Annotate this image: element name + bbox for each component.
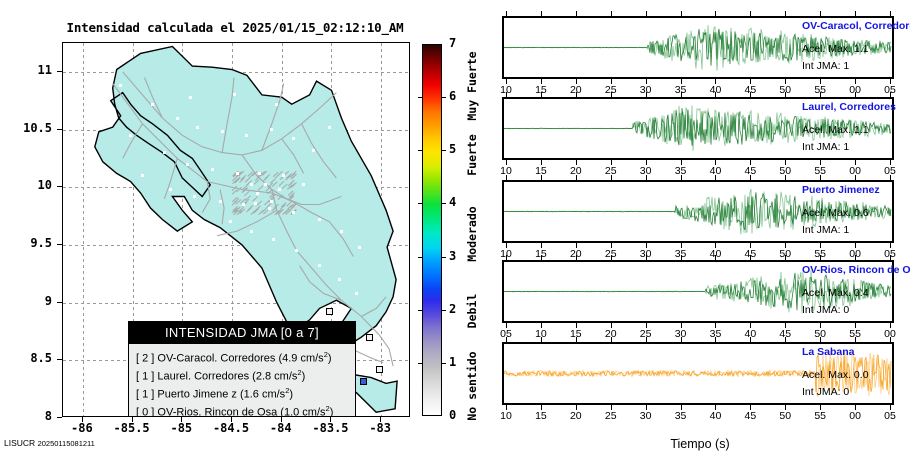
time-axis-tick-top <box>611 337 612 342</box>
y-axis-label: 11 <box>4 63 52 77</box>
station-dot <box>250 183 253 186</box>
time-axis-tick <box>855 160 856 165</box>
legend-item-tail: ) <box>302 371 306 383</box>
station-dot <box>233 93 236 96</box>
time-axis-tick-top <box>715 337 716 342</box>
legend-item-level: [ 2 ] <box>136 353 157 365</box>
time-axis-tick-top <box>681 175 682 180</box>
y-axis-label: 9.5 <box>4 236 52 250</box>
time-axis-tick <box>576 323 577 328</box>
time-axis-tick-label: 45 <box>735 410 765 422</box>
colorbar-category-label: Muy Fuerte <box>465 51 479 120</box>
station-dot <box>272 238 275 241</box>
time-axis-tick <box>715 405 716 410</box>
waveform-station-name: OV-Rios, Rincon de Osa <box>802 264 910 276</box>
time-axis-tick-top <box>855 92 856 97</box>
colorbar-tick <box>441 257 446 258</box>
legend-item: [ 1 ] Puerto Jimene z (1.6 cm/s2) <box>136 384 350 402</box>
time-axis-tick <box>750 405 751 410</box>
y-axis-label: 8 <box>4 409 52 423</box>
colorbar-category-label: Moderado <box>465 207 479 262</box>
station-square-marker[interactable] <box>360 378 367 385</box>
time-axis-tick-label: 20 <box>561 410 591 422</box>
waveform-station-name: Puerto Jimenez <box>802 184 880 196</box>
time-axis-tick <box>506 323 507 328</box>
station-dot <box>221 130 224 133</box>
time-axis-tick-top <box>715 11 716 16</box>
time-axis-tick-top <box>506 175 507 180</box>
time-axis-tick-top <box>855 337 856 342</box>
time-axis-tick <box>855 243 856 248</box>
y-axis-tick <box>57 186 62 187</box>
time-axis-tick-top <box>681 92 682 97</box>
time-axis-tick <box>750 160 751 165</box>
time-axis-tick <box>890 243 891 248</box>
time-axis-tick-label: 55 <box>805 410 835 422</box>
colorbar-tick-label: 3 <box>449 249 456 263</box>
time-axis-tick-top <box>750 11 751 16</box>
colorbar-tick-label: 1 <box>449 355 456 369</box>
time-axis-tick-top <box>646 175 647 180</box>
time-axis-tick <box>681 405 682 410</box>
intensity-map[interactable]: INTENSIDAD JMA [0 a 7] [ 2 ] OV-Caracol.… <box>62 42 410 417</box>
colorbar-category-label: No sentido <box>465 351 479 420</box>
time-axis-tick <box>506 79 507 84</box>
waveform-time-axis <box>502 243 894 249</box>
y-axis-tick <box>57 244 62 245</box>
station-dot <box>318 218 321 221</box>
time-axis-tick-label: 35 <box>666 410 696 422</box>
station-dot <box>275 103 278 106</box>
waveform-time-axis <box>502 79 894 85</box>
station-dot <box>270 128 273 131</box>
time-axis-tick-top <box>541 175 542 180</box>
legend-title: INTENSIDAD JMA [0 a 7] <box>129 322 355 344</box>
legend-rows: [ 2 ] OV-Caracol. Corredores (4.9 cm/s2)… <box>129 344 355 417</box>
station-dot <box>358 246 361 249</box>
page-title: Intensidad calculada el 2025/01/15_02:12… <box>60 20 410 35</box>
time-axis-tick-top <box>750 175 751 180</box>
station-dot <box>193 195 196 198</box>
time-axis-tick <box>890 79 891 84</box>
waveform-max-acceleration: Acel. Max. 0.6 <box>802 207 869 219</box>
station-dot <box>338 278 341 281</box>
time-axis-tick-top <box>541 255 542 260</box>
station-dot <box>355 292 358 295</box>
waveform-time-axis <box>502 160 894 166</box>
station-dot <box>186 163 189 166</box>
station-dot <box>278 188 281 191</box>
time-axis-tick-top <box>890 337 891 342</box>
time-axis-tick <box>855 79 856 84</box>
station-dot <box>292 211 295 214</box>
waveform-max-acceleration: Acel. Max. 1.1 <box>802 43 869 55</box>
colorbar-tick-label: 2 <box>449 302 456 316</box>
time-axis-tick <box>611 405 612 410</box>
colorbar-tick <box>441 310 446 311</box>
station-dot <box>119 84 122 87</box>
time-axis-tick <box>646 323 647 328</box>
time-axis-tick-top <box>785 92 786 97</box>
time-axis-tick-top <box>785 255 786 260</box>
station-dot <box>258 172 261 175</box>
time-axis-tick <box>506 405 507 410</box>
legend-item-station: OV-Caracol. Corredores (4.9 cm/s <box>157 353 323 365</box>
waveform-time-axis <box>502 405 894 411</box>
time-axis-tick-top <box>750 92 751 97</box>
time-axis-tick-top <box>576 255 577 260</box>
station-dot <box>270 200 273 203</box>
legend-item-tail: ) <box>330 407 334 417</box>
legend-item-tail: ) <box>328 353 332 365</box>
time-axis-tick-top <box>820 337 821 342</box>
colorbar-tick-label: 6 <box>449 89 456 103</box>
time-axis-tick-label: 50 <box>770 410 800 422</box>
time-axis-tick-top <box>541 337 542 342</box>
time-axis-tick <box>820 323 821 328</box>
time-axis-tick-top <box>890 92 891 97</box>
time-axis-tick <box>750 323 751 328</box>
waveform-jma-intensity: Int JMA: 1 <box>802 60 849 72</box>
time-axis-tick-top <box>855 255 856 260</box>
station-dot <box>250 230 253 233</box>
time-axis-tick <box>785 323 786 328</box>
time-axis-tick-top <box>715 92 716 97</box>
time-axis-tick-top <box>611 11 612 16</box>
time-axis-tick <box>576 79 577 84</box>
legend-item-station: Laurel. Corredores (2.8 cm/s <box>157 371 297 383</box>
y-axis-tick <box>57 71 62 72</box>
time-axis-tick <box>890 160 891 165</box>
time-axis-tick <box>715 323 716 328</box>
colorbar-tick <box>441 203 446 204</box>
legend-box: INTENSIDAD JMA [0 a 7] [ 2 ] OV-Caracol.… <box>128 321 356 417</box>
waveform-station-name: Laurel, Corredores <box>802 101 896 113</box>
y-axis-tick <box>57 417 62 418</box>
time-axis-tick-top <box>855 11 856 16</box>
colorbar-tick-label: 7 <box>449 36 456 50</box>
time-axis-tick-top <box>611 255 612 260</box>
time-axis-tick-top <box>611 175 612 180</box>
colorbar-category-label: Debil <box>465 294 479 329</box>
waveform-jma-intensity: Int JMA: 1 <box>802 141 849 153</box>
time-axis-tick <box>576 160 577 165</box>
time-axis-tick <box>611 243 612 248</box>
time-axis-tick <box>750 79 751 84</box>
legend-item: [ 2 ] OV-Caracol. Corredores (4.9 cm/s2) <box>136 348 350 366</box>
time-axis-tick-top <box>506 337 507 342</box>
time-axis-tick <box>820 405 821 410</box>
y-axis-tick <box>57 359 62 360</box>
time-axis-tick-top <box>750 337 751 342</box>
time-axis-label: Tiempo (s) <box>560 437 840 451</box>
station-dot <box>189 96 192 99</box>
station-dot <box>295 249 298 252</box>
time-axis-tick <box>681 160 682 165</box>
time-axis-tick-label: 25 <box>596 410 626 422</box>
time-axis-tick <box>715 243 716 248</box>
colorbar-tick <box>418 363 423 364</box>
station-dot <box>163 151 166 154</box>
station-dot <box>113 111 116 114</box>
station-dot <box>211 168 214 171</box>
time-axis-tick-top <box>576 11 577 16</box>
station-dot <box>176 117 179 120</box>
station-dot <box>264 183 267 186</box>
legend-item-tail: ) <box>289 389 293 401</box>
time-axis-tick-top <box>890 175 891 180</box>
time-axis-tick <box>715 160 716 165</box>
time-axis-tick <box>785 243 786 248</box>
time-axis-tick-top <box>785 175 786 180</box>
time-axis-tick-top <box>576 92 577 97</box>
station-square-marker[interactable] <box>326 308 333 315</box>
time-axis-tick <box>541 243 542 248</box>
colorbar-tick-label: 4 <box>449 195 456 209</box>
colorbar-tick-label: 0 <box>449 408 456 422</box>
station-dot <box>340 230 343 233</box>
station-dot <box>169 188 172 191</box>
time-axis-tick <box>541 323 542 328</box>
time-axis-tick-top <box>890 11 891 16</box>
time-axis-tick-top <box>576 175 577 180</box>
footer-credit: LISUCR 20250115081211 <box>4 438 95 448</box>
station-dot <box>282 174 285 177</box>
colorbar-tick <box>418 310 423 311</box>
time-axis-tick <box>541 160 542 165</box>
colorbar-tick <box>441 363 446 364</box>
time-axis-tick-top <box>820 175 821 180</box>
time-axis-tick <box>890 405 891 410</box>
waveform-jma-intensity: Int JMA: 1 <box>802 224 849 236</box>
colorbar-tick <box>418 97 423 98</box>
time-axis-tick <box>506 160 507 165</box>
station-dot <box>219 200 222 203</box>
time-axis-tick <box>611 160 612 165</box>
time-axis-tick-top <box>541 92 542 97</box>
time-axis-tick-label: 15 <box>526 410 556 422</box>
legend-item-level: [ 1 ] <box>136 371 157 383</box>
colorbar-tick <box>418 257 423 258</box>
waveform-max-acceleration: Acel. Max. 1.1 <box>802 124 869 136</box>
time-axis-tick-top <box>646 11 647 16</box>
station-dot <box>312 149 315 152</box>
y-axis-tick <box>57 129 62 130</box>
time-axis-tick <box>541 405 542 410</box>
time-axis-tick-top <box>820 11 821 16</box>
time-axis-tick <box>646 160 647 165</box>
station-dot <box>229 220 232 223</box>
time-axis-tick <box>506 243 507 248</box>
time-axis-tick <box>855 323 856 328</box>
time-axis-tick <box>576 405 577 410</box>
time-axis-tick-top <box>506 11 507 16</box>
time-axis-tick-top <box>576 337 577 342</box>
station-square-marker[interactable] <box>376 366 383 373</box>
time-axis-tick <box>785 160 786 165</box>
y-axis-label: 10 <box>4 178 52 192</box>
time-axis-tick <box>785 79 786 84</box>
time-axis-tick <box>785 405 786 410</box>
time-axis-tick-top <box>646 337 647 342</box>
legend-item: [ 1 ] Laurel. Corredores (2.8 cm/s2) <box>136 366 350 384</box>
colorbar-tick <box>441 97 446 98</box>
time-axis-tick <box>541 79 542 84</box>
time-axis-tick-label: 05 <box>875 410 905 422</box>
colorbar-tick <box>418 150 423 151</box>
time-axis-tick-label: 00 <box>840 410 870 422</box>
legend-item: [ 0 ] OV-Rios. Rincon de Osa (1.0 cm/s2) <box>136 402 350 417</box>
time-axis-tick-top <box>646 255 647 260</box>
station-dot <box>254 202 257 205</box>
intensity-colorbar <box>422 44 442 416</box>
time-axis-tick-top <box>890 255 891 260</box>
seismic-intensity-report: Intensidad calculada el 2025/01/15_02:12… <box>0 0 910 460</box>
time-axis-tick-top <box>820 92 821 97</box>
time-axis-tick <box>820 79 821 84</box>
y-axis-label: 10.5 <box>4 121 52 135</box>
y-axis-tick <box>57 302 62 303</box>
time-axis-tick-top <box>681 255 682 260</box>
station-dot <box>318 264 321 267</box>
time-axis-tick-top <box>541 11 542 16</box>
time-axis-tick <box>681 79 682 84</box>
station-dot <box>236 172 239 175</box>
time-axis-tick-top <box>506 92 507 97</box>
time-axis-tick <box>715 79 716 84</box>
station-dot <box>129 134 132 137</box>
time-axis-tick-top <box>715 255 716 260</box>
y-axis-label: 9 <box>4 294 52 308</box>
legend-item-level: [ 1 ] <box>136 389 157 401</box>
time-axis-tick-label: 30 <box>631 410 661 422</box>
time-axis-tick <box>820 243 821 248</box>
time-axis-tick <box>750 243 751 248</box>
station-dot <box>242 203 245 206</box>
station-dot <box>292 137 295 140</box>
colorbar-tick <box>418 203 423 204</box>
station-dot <box>256 192 259 195</box>
time-axis-tick-top <box>785 11 786 16</box>
waveform-time-axis <box>502 323 894 329</box>
time-axis-tick-top <box>750 255 751 260</box>
legend-item-station: OV-Rios. Rincon de Osa (1.0 cm/s <box>157 407 325 417</box>
station-dot <box>245 134 248 137</box>
waveform-max-acceleration: Acel. Max. 0.0 <box>802 369 869 381</box>
time-axis-tick-top <box>785 337 786 342</box>
time-axis-tick-top <box>855 175 856 180</box>
station-dot <box>141 174 144 177</box>
time-axis-tick-top <box>681 11 682 16</box>
time-axis-tick <box>576 243 577 248</box>
time-axis-tick-label: 10 <box>491 410 521 422</box>
station-dot <box>302 183 305 186</box>
time-axis-tick-top <box>820 255 821 260</box>
time-axis-tick-top <box>646 92 647 97</box>
time-axis-tick <box>855 405 856 410</box>
legend-item-station: Puerto Jimene z (1.6 cm/s <box>157 389 285 401</box>
colorbar-category-label: Fuerte <box>465 134 479 176</box>
time-axis-tick <box>646 79 647 84</box>
waveform-station-name: La Sabana <box>802 346 855 358</box>
time-axis-tick-top <box>681 337 682 342</box>
time-axis-tick <box>611 323 612 328</box>
station-dot <box>196 126 199 129</box>
colorbar-tick <box>441 150 446 151</box>
time-axis-tick-top <box>715 175 716 180</box>
time-axis-tick <box>646 243 647 248</box>
station-dot <box>328 126 331 129</box>
footer-code: 20250115081211 <box>38 439 95 448</box>
x-axis-label: -83 <box>350 421 410 435</box>
time-axis-tick-label: 40 <box>700 410 730 422</box>
station-dot <box>268 207 271 210</box>
waveform-station-name: OV-Caracol, Corredores <box>802 20 910 32</box>
time-axis-tick <box>611 79 612 84</box>
time-axis-tick <box>681 243 682 248</box>
station-dot <box>151 103 154 106</box>
time-axis-tick <box>681 323 682 328</box>
waveform-jma-intensity: Int JMA: 0 <box>802 386 849 398</box>
time-axis-tick-top <box>611 92 612 97</box>
waveform-max-acceleration: Acel. Max. 0.4 <box>802 287 869 299</box>
y-axis-label: 8.5 <box>4 351 52 365</box>
colorbar-tick-label: 5 <box>449 142 456 156</box>
waveform-jma-intensity: Int JMA: 0 <box>802 304 849 316</box>
time-axis-tick <box>646 405 647 410</box>
station-square-marker[interactable] <box>366 334 373 341</box>
legend-item-level: [ 0 ] <box>136 407 157 417</box>
time-axis-tick <box>820 160 821 165</box>
footer-agency: LISUCR <box>4 438 35 448</box>
time-axis-tick <box>890 323 891 328</box>
time-axis-tick-top <box>506 255 507 260</box>
